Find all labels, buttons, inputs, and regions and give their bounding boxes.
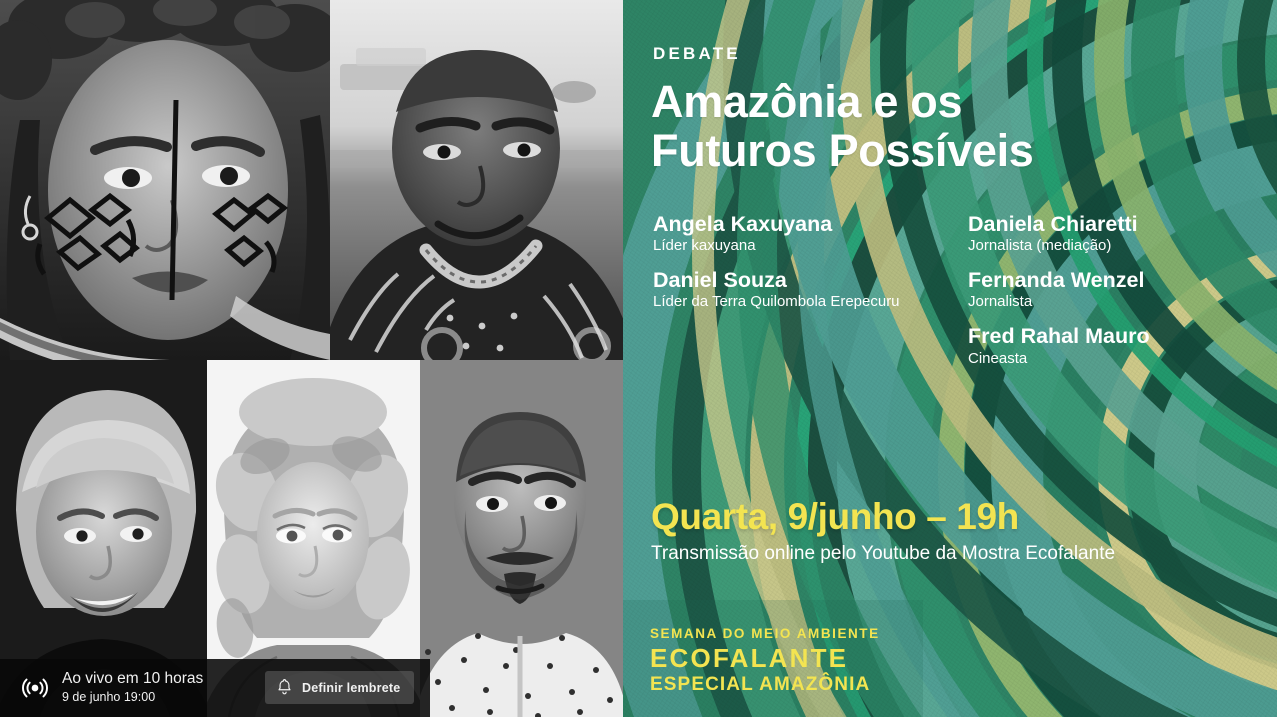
set-reminder-button[interactable]: Definir lembrete (265, 671, 414, 704)
speaker-role: Jornalista (968, 293, 1258, 312)
bell-icon (275, 677, 294, 699)
speaker-entry: Angela Kaxuyana Líder kaxuyana (653, 212, 973, 256)
kicker-label: DEBATE (653, 44, 741, 64)
logo-line-1: SEMANA DO MEIO AMBIENTE (650, 626, 880, 643)
speaker-name: Fred Rahal Mauro (968, 324, 1258, 349)
page-title: Amazônia e os Futuros Possíveis (651, 78, 1034, 175)
speaker-name: Angela Kaxuyana (653, 212, 973, 237)
speakers-column-left: Angela Kaxuyana Líder kaxuyana Daniel So… (653, 212, 973, 324)
speaker-role: Líder da Terra Quilombola Erepecuru (653, 293, 973, 312)
speaker-role: Líder kaxuyana (653, 237, 973, 256)
logo-line-2: ECOFALANTE (650, 644, 880, 673)
poster-thumbnail: Ao vivo em 10 horas 9 de junho 19:00 Def… (0, 0, 1277, 717)
speaker-role: Cineasta (968, 350, 1258, 369)
speaker-name: Daniela Chiaretti (968, 212, 1258, 237)
ecofalante-logo: SEMANA DO MEIO AMBIENTE ECOFALANTE ESPEC… (650, 626, 880, 697)
live-broadcast-icon (18, 671, 52, 705)
speaker-name: Daniel Souza (653, 268, 973, 293)
speakers-column-right: Daniela Chiaretti Jornalista (mediação) … (968, 212, 1258, 380)
photo-angela-kaxuyana (0, 0, 330, 360)
speaker-name: Fernanda Wenzel (968, 268, 1258, 293)
live-status-text: Ao vivo em 10 horas (62, 670, 203, 687)
speaker-entry: Daniel Souza Líder da Terra Quilombola E… (653, 268, 973, 312)
photo-fred-rahal-mauro (420, 360, 623, 717)
set-reminder-label: Definir lembrete (302, 681, 400, 695)
title-line-1: Amazônia e os (651, 78, 1034, 127)
speaker-role: Jornalista (mediação) (968, 237, 1258, 256)
photo-collage: Ao vivo em 10 horas 9 de junho 19:00 Def… (0, 0, 623, 717)
broadcast-text: Transmissão online pelo Youtube da Mostr… (651, 542, 1115, 567)
speaker-entry: Fernanda Wenzel Jornalista (968, 268, 1258, 312)
photo-daniel-souza (330, 0, 623, 360)
logo-line-3: ESPECIAL AMAZÔNIA (650, 674, 880, 697)
event-date-text: Quarta, 9/junho – 19h (651, 498, 1115, 537)
title-line-2: Futuros Possíveis (651, 127, 1034, 176)
event-datetime-block: Quarta, 9/junho – 19h Transmissão online… (651, 498, 1115, 567)
speaker-entry: Fred Rahal Mauro Cineasta (968, 324, 1258, 368)
speaker-entry: Daniela Chiaretti Jornalista (mediação) (968, 212, 1258, 256)
live-schedule-text: 9 de junho 19:00 (62, 690, 155, 704)
event-poster-panel: DEBATE Amazônia e os Futuros Possíveis A… (623, 0, 1277, 717)
